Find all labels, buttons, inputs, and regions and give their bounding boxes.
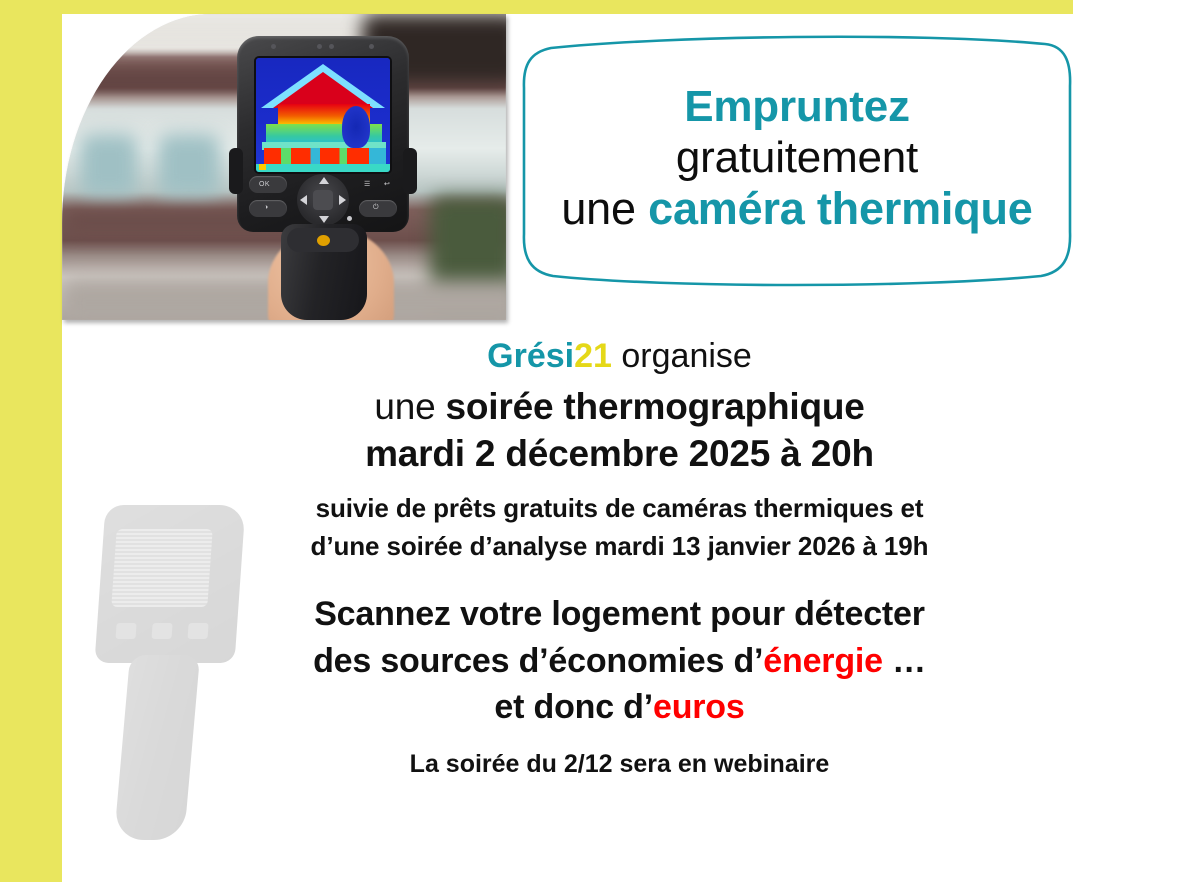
headline-line-1: une soirée thermographique: [62, 383, 1177, 430]
organiser-verb: organise: [612, 337, 752, 375]
headline-line-2: mardi 2 décembre 2025 à 20h: [62, 430, 1177, 477]
camera-trigger-dot: [317, 235, 330, 246]
scan-line-3: et donc d’euros: [62, 684, 1177, 731]
frame-band-top: [0, 0, 1073, 14]
camera-gallery-icon: ☰: [364, 180, 371, 188]
thermal-tree-cold: [342, 106, 370, 148]
camera-back-icon: ↩: [384, 180, 390, 188]
camera-brightness-icon: ◑: [264, 204, 269, 211]
scan-2-red-energie: énergie: [763, 642, 883, 680]
scan-2-prefix: des sources d’économies d’: [313, 642, 763, 680]
camera-top-sensors: [237, 44, 409, 54]
thermal-roof-hot: [273, 72, 373, 108]
callout-line-1: Empruntez: [684, 81, 910, 132]
headline-1-bold: soirée thermographique: [446, 386, 865, 427]
subline-2: d’une soirée d’analyse mardi 13 janvier …: [62, 528, 1177, 565]
callout-text-block: Empruntez gratuitement une caméra thermi…: [517, 26, 1077, 291]
poster-root: OK ◑ ☰ ↩ ⏻: [0, 0, 1177, 882]
camera-status-led: [347, 216, 352, 221]
scan-3-prefix: et donc d’: [494, 688, 653, 726]
dpad-right-arrow-icon: [339, 195, 346, 205]
camera-ok-label: OK: [259, 181, 270, 188]
thermal-camera-device: OK ◑ ☰ ↩ ⏻: [237, 36, 409, 314]
brand-gresi: Grési: [487, 337, 574, 375]
camera-screen-thermal-image: [256, 58, 390, 172]
scan-3-red-euros: euros: [653, 688, 745, 726]
scan-line-1: Scannez votre logement pour détecter: [62, 591, 1177, 638]
callout-line-2: gratuitement: [676, 132, 918, 183]
subline-1: suivie de prêts gratuits de caméras ther…: [62, 490, 1177, 527]
headline-1-lite: une: [374, 386, 445, 427]
callout-box: Empruntez gratuitement une caméra thermi…: [517, 26, 1077, 291]
organiser-line: Grési21 organise: [62, 336, 1177, 377]
callout-line-3-accent: caméra thermique: [648, 183, 1032, 234]
hero-photo-thermal-camera: OK ◑ ☰ ↩ ⏻: [62, 14, 506, 320]
camera-dpad: [297, 174, 349, 226]
callout-line-3-prefix: une: [561, 183, 648, 234]
footer-line-webinaire: La soirée du 2/12 sera en webinaire: [62, 749, 1177, 779]
callout-line-3: une caméra thermique: [561, 183, 1032, 235]
brand-21: 21: [574, 337, 612, 375]
house-window-blob-2: [158, 134, 220, 196]
scan-2-suffix: …: [883, 642, 926, 680]
dpad-left-arrow-icon: [300, 195, 307, 205]
scan-line-2: des sources d’économies d’énergie …: [62, 638, 1177, 685]
dpad-up-arrow-icon: [319, 177, 329, 184]
main-copy-block: Grési21 organise une soirée thermographi…: [62, 336, 1177, 779]
camera-power-icon: ⏻: [373, 204, 379, 212]
dpad-down-arrow-icon: [319, 216, 329, 223]
thermal-scale-marker: [259, 164, 266, 170]
frame-band-left: [0, 0, 62, 882]
house-window-blob-1: [80, 134, 138, 196]
dpad-center-button: [313, 190, 333, 210]
thermal-ground: [256, 164, 390, 172]
